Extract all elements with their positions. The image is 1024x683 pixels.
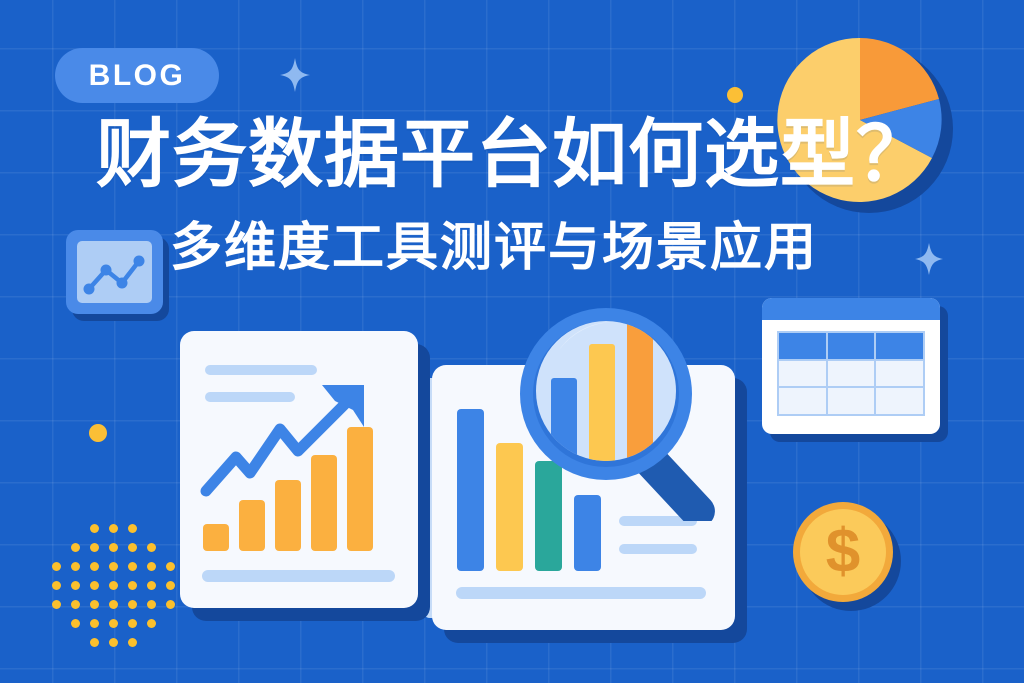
table-cell xyxy=(779,361,826,387)
pattern-dot xyxy=(71,619,80,628)
pattern-dot xyxy=(109,581,118,590)
pattern-dot xyxy=(52,562,61,571)
table-icon-card xyxy=(762,298,940,434)
pattern-dot xyxy=(128,619,137,628)
pattern-dot xyxy=(128,638,137,647)
table-cell xyxy=(876,361,923,387)
table-cell xyxy=(876,388,923,414)
text-line xyxy=(202,570,395,582)
bar xyxy=(589,344,615,466)
pattern-dot xyxy=(71,600,80,609)
page-subtitle: 多维度工具测评与场景应用 xyxy=(170,222,818,274)
table-icon-titlebar xyxy=(762,298,940,320)
table-icon xyxy=(762,298,940,434)
pattern-dot xyxy=(109,638,118,647)
pattern-dot xyxy=(109,543,118,552)
table-cell xyxy=(828,388,875,414)
pattern-dot xyxy=(128,524,137,533)
pattern-dot xyxy=(90,619,99,628)
pattern-dot xyxy=(128,543,137,552)
pattern-dot xyxy=(52,581,61,590)
pattern-dot xyxy=(71,581,80,590)
pattern-dot xyxy=(109,619,118,628)
table-cell xyxy=(876,333,923,359)
pattern-dot xyxy=(128,581,137,590)
table-cell xyxy=(828,333,875,359)
table-icon-grid xyxy=(777,331,925,416)
text-line xyxy=(456,587,706,599)
pattern-dot xyxy=(147,600,156,609)
pattern-dot xyxy=(90,581,99,590)
growth-report-card xyxy=(180,331,418,608)
line-chart-icon xyxy=(66,230,163,314)
sparkle-icon xyxy=(915,243,943,275)
gold-dot xyxy=(89,424,107,442)
text-line xyxy=(619,544,697,554)
dollar-coin-icon: $ xyxy=(793,502,893,602)
pattern-dot xyxy=(166,600,175,609)
pattern-dot xyxy=(166,581,175,590)
pattern-dot xyxy=(128,600,137,609)
pattern-dot xyxy=(147,562,156,571)
diamond-dot-pattern xyxy=(52,524,188,646)
pattern-dot xyxy=(52,600,61,609)
blog-badge-label: BLOG xyxy=(89,59,186,93)
text-line xyxy=(205,365,317,375)
pattern-dot xyxy=(147,581,156,590)
banner-canvas: BLOG xyxy=(0,0,1024,683)
pattern-dot xyxy=(128,562,137,571)
pattern-dot xyxy=(90,638,99,647)
pattern-dot xyxy=(109,600,118,609)
bar xyxy=(457,409,484,571)
table-cell xyxy=(779,333,826,359)
blog-badge[interactable]: BLOG xyxy=(55,48,219,103)
sparkle-icon xyxy=(280,58,310,92)
page-title: 财务数据平台如何选型？ xyxy=(96,117,932,192)
pattern-dot xyxy=(109,524,118,533)
table-cell xyxy=(828,361,875,387)
magnifier-icon xyxy=(517,306,747,521)
pattern-dot xyxy=(71,562,80,571)
pattern-dot xyxy=(147,543,156,552)
gold-dot xyxy=(727,87,743,103)
pattern-dot xyxy=(90,562,99,571)
pattern-dot xyxy=(90,524,99,533)
bar xyxy=(627,320,653,466)
pattern-dot xyxy=(166,562,175,571)
pattern-dot xyxy=(90,543,99,552)
pattern-dot xyxy=(90,600,99,609)
pattern-dot xyxy=(147,619,156,628)
table-cell xyxy=(779,388,826,414)
pattern-dot xyxy=(109,562,118,571)
dollar-sign-icon: $ xyxy=(793,502,893,602)
pattern-dot xyxy=(71,543,80,552)
